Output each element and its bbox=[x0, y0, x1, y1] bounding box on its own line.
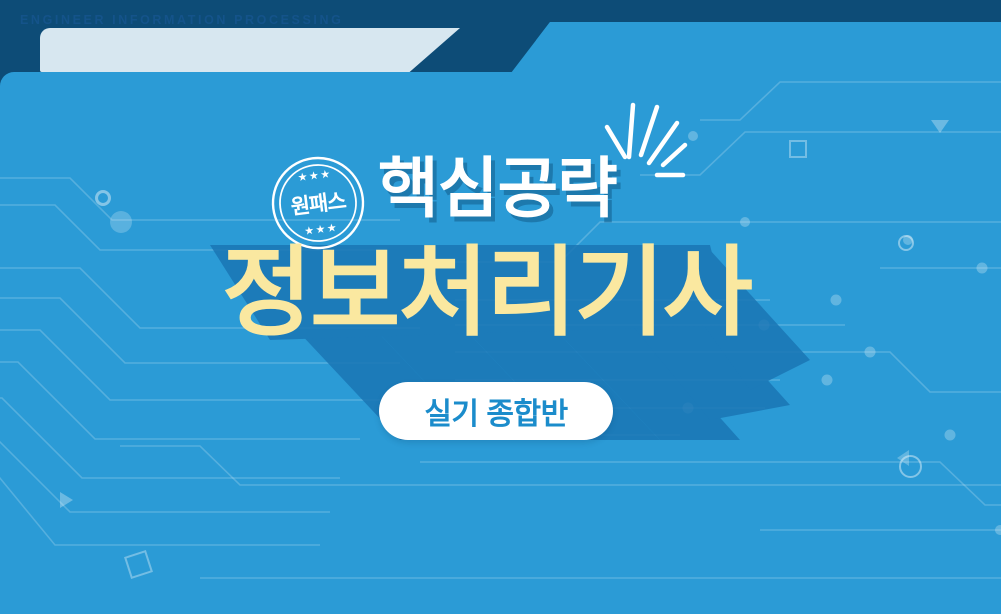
course-type-pill[interactable]: 실기 종합반 bbox=[379, 382, 613, 440]
ring-outline-right-icon bbox=[898, 235, 914, 251]
triangle-down-icon bbox=[931, 120, 949, 133]
square-outline-rotated-icon bbox=[124, 550, 153, 579]
dot-filled-icon bbox=[110, 211, 132, 233]
badge-label: 원패스 bbox=[290, 190, 348, 220]
page-title: 정보처리기사 bbox=[222, 243, 751, 341]
badge-stars-bottom: ★★★ bbox=[304, 222, 339, 238]
course-promo-banner: ENGINEER INFORMATION PROCESSING bbox=[0, 0, 1001, 614]
badge-stars-top: ★★★ bbox=[297, 168, 332, 184]
triangle-left-icon bbox=[897, 450, 909, 466]
triangle-right-icon bbox=[60, 492, 73, 508]
square-outline-icon bbox=[789, 140, 807, 158]
ring-outline-icon bbox=[95, 190, 111, 206]
headline-text: 핵심공략 bbox=[378, 155, 617, 221]
course-type-label: 실기 종합반 bbox=[424, 389, 567, 433]
ring-outline-lower-icon bbox=[899, 455, 922, 478]
